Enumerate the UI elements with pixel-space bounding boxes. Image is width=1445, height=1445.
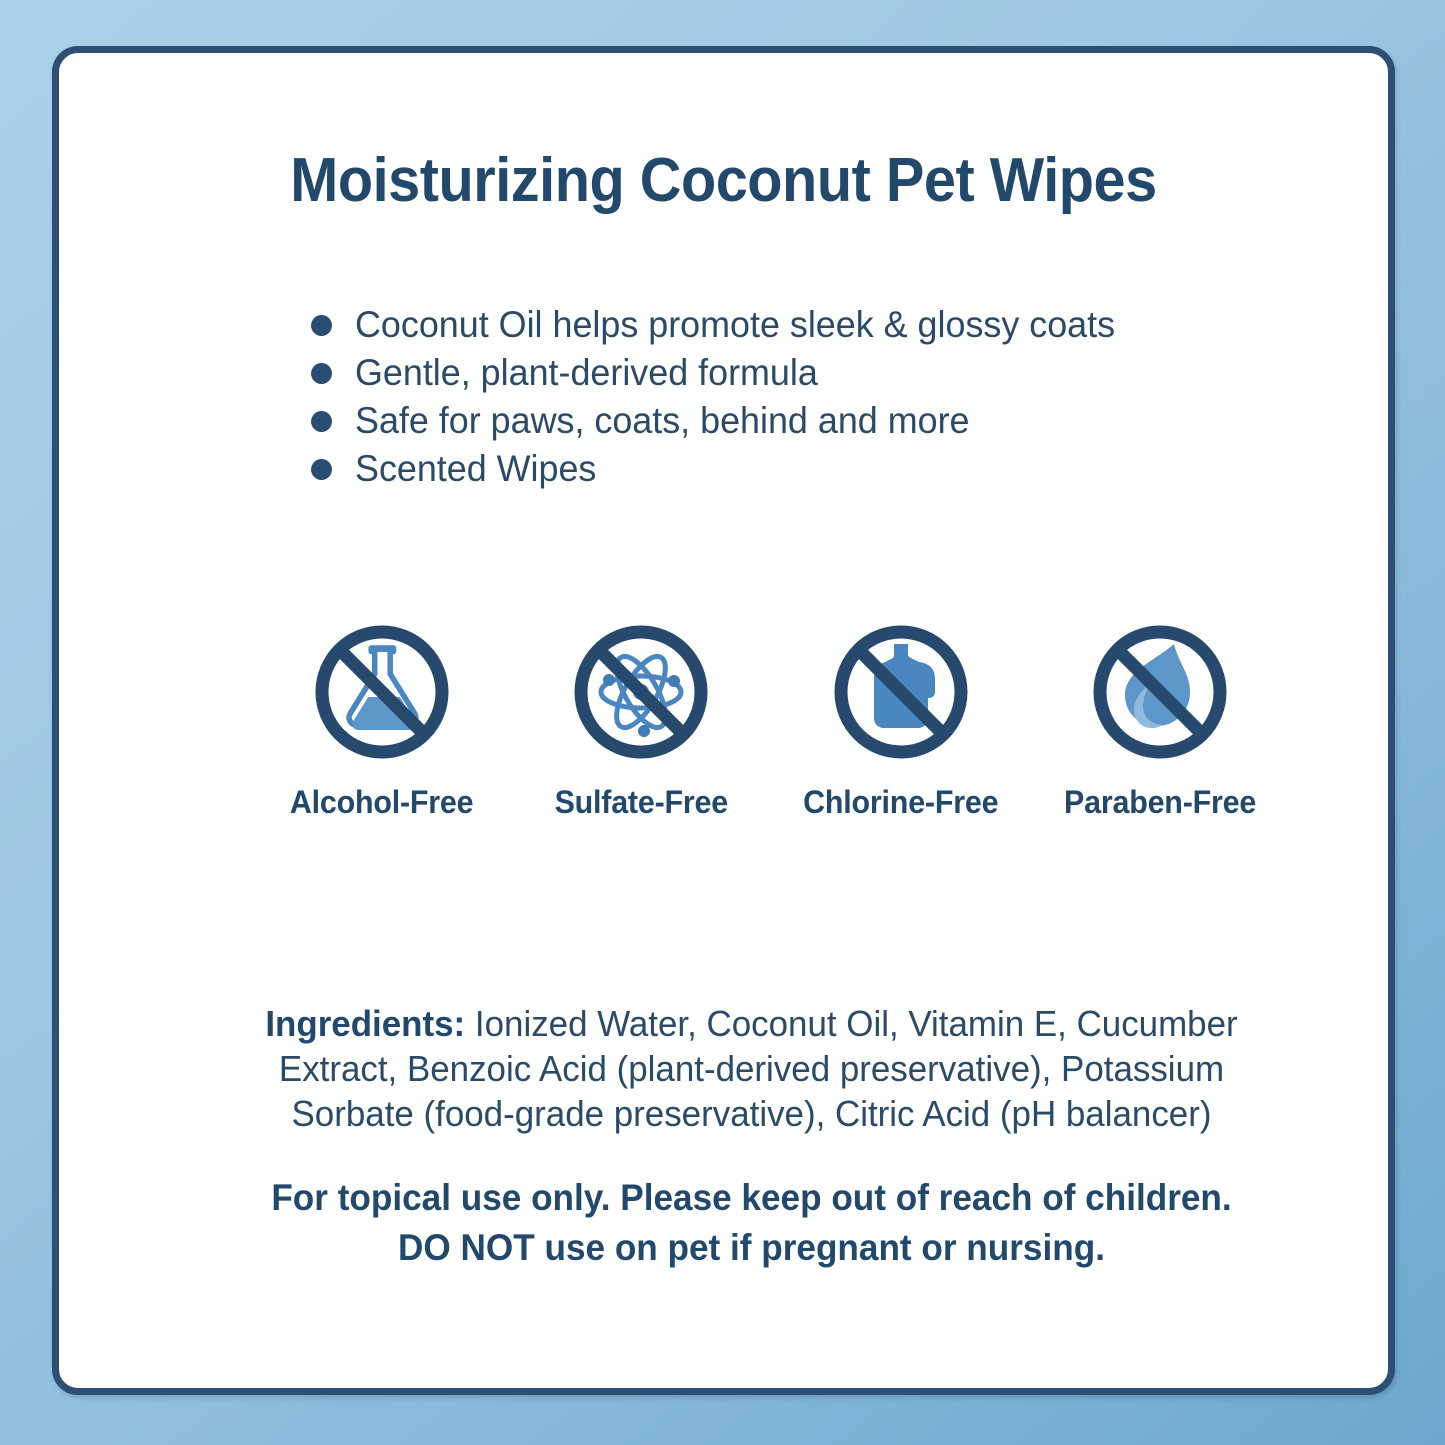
benefits-list: Coconut Oil helps promote sleek & glossy… xyxy=(311,303,1311,495)
free-from-item-chlorine: Chlorine-Free xyxy=(786,618,1016,821)
free-from-icon-row: Alcohol-Free Sulfate-Free xyxy=(267,618,1275,821)
benefit-text: Gentle, plant-derived formula xyxy=(355,351,818,395)
warning-line-2: DO NOT use on pet if pregnant or nursing… xyxy=(208,1223,1296,1273)
page-title: Moisturizing Coconut Pet Wipes xyxy=(106,145,1342,216)
free-from-item-paraben: Paraben-Free xyxy=(1045,618,1275,821)
product-info-card: Moisturizing Coconut Pet Wipes Coconut O… xyxy=(52,46,1395,1395)
benefit-text: Safe for paws, coats, behind and more xyxy=(355,399,969,443)
list-item: Coconut Oil helps promote sleek & glossy… xyxy=(311,303,1311,347)
no-droplet-icon xyxy=(1086,618,1234,766)
no-atom-icon xyxy=(567,618,715,766)
free-from-item-alcohol: Alcohol-Free xyxy=(267,618,497,821)
no-jug-icon xyxy=(827,618,975,766)
icon-label: Alcohol-Free xyxy=(290,784,474,821)
icon-label: Paraben-Free xyxy=(1064,784,1256,821)
no-flask-icon xyxy=(308,618,456,766)
warning-text: For topical use only. Please keep out of… xyxy=(208,1173,1296,1273)
bullet-dot-icon xyxy=(311,315,332,336)
infographic-page: Moisturizing Coconut Pet Wipes Coconut O… xyxy=(0,0,1445,1445)
benefit-text: Coconut Oil helps promote sleek & glossy… xyxy=(355,303,1115,347)
icon-label: Chlorine-Free xyxy=(803,784,998,821)
ingredients-paragraph: Ingredients: Ionized Water, Coconut Oil,… xyxy=(225,1001,1277,1136)
bullet-dot-icon xyxy=(311,411,332,432)
bullet-dot-icon xyxy=(311,363,332,384)
free-from-item-sulfate: Sulfate-Free xyxy=(526,618,756,821)
ingredients-heading: Ingredients: xyxy=(265,1003,465,1044)
list-item: Scented Wipes xyxy=(311,447,1311,491)
warning-line-1: For topical use only. Please keep out of… xyxy=(208,1173,1296,1223)
list-item: Safe for paws, coats, behind and more xyxy=(311,399,1311,443)
bullet-dot-icon xyxy=(311,459,332,480)
icon-label: Sulfate-Free xyxy=(555,784,728,821)
list-item: Gentle, plant-derived formula xyxy=(311,351,1311,395)
benefit-text: Scented Wipes xyxy=(355,447,596,491)
